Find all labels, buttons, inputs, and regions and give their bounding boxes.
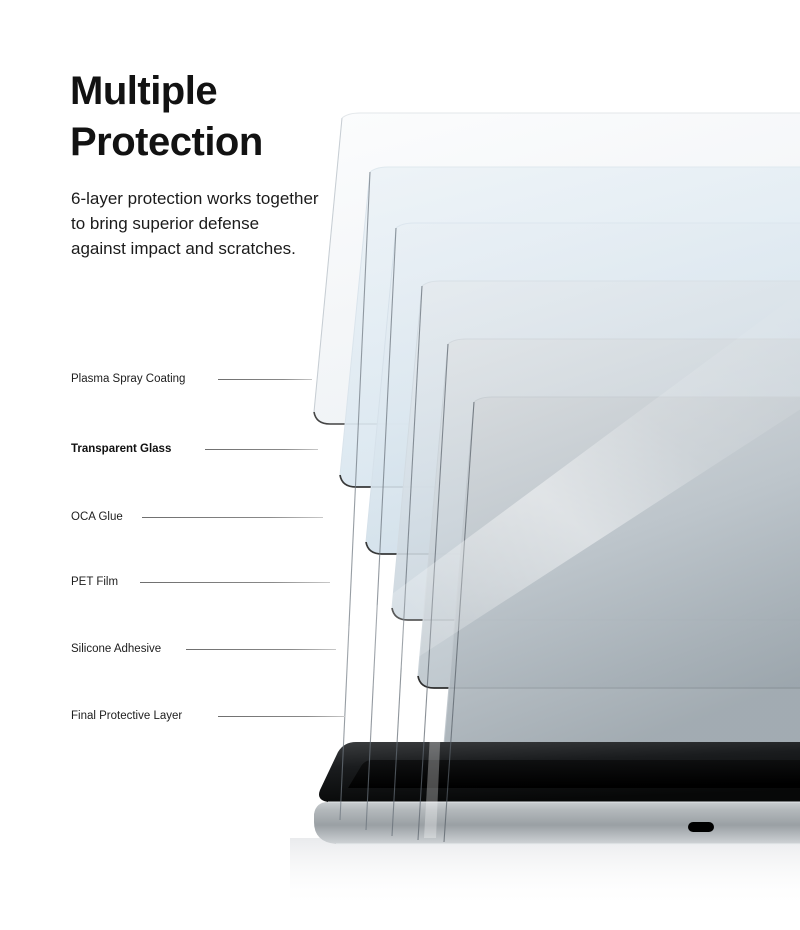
- layer-label: Plasma Spray Coating: [71, 371, 185, 387]
- floor-shadow: [290, 838, 800, 908]
- subtitle-line-2: to bring superior defense: [71, 211, 411, 236]
- layer-label: OCA Glue: [71, 509, 123, 525]
- subtitle-line-3: against impact and scratches.: [71, 236, 411, 261]
- page-title: Multiple Protection: [70, 66, 400, 168]
- leader-line: [218, 716, 345, 717]
- device-screen-face: [348, 760, 800, 788]
- leader-line: [205, 449, 318, 450]
- tablet-device: [314, 742, 800, 844]
- leader-line: [218, 379, 312, 380]
- subtitle-line-1: 6-layer protection works together: [71, 186, 411, 211]
- layer-label: Transparent Glass: [71, 441, 171, 457]
- page-subtitle: 6-layer protection works together to bri…: [71, 186, 411, 261]
- leader-line: [140, 582, 330, 583]
- leader-line: [186, 649, 336, 650]
- infographic-page: Multiple Protection 6-layer protection w…: [0, 0, 800, 930]
- layer-label: Silicone Adhesive: [71, 641, 161, 657]
- layer-label: PET Film: [71, 574, 118, 590]
- headline-line-2: Protection: [70, 117, 400, 168]
- headline-line-1: Multiple: [70, 66, 400, 117]
- layer-label: Final Protective Layer: [71, 708, 182, 724]
- leader-line: [142, 517, 323, 518]
- usb-c-port: [688, 822, 714, 832]
- device-bezel: [314, 802, 800, 844]
